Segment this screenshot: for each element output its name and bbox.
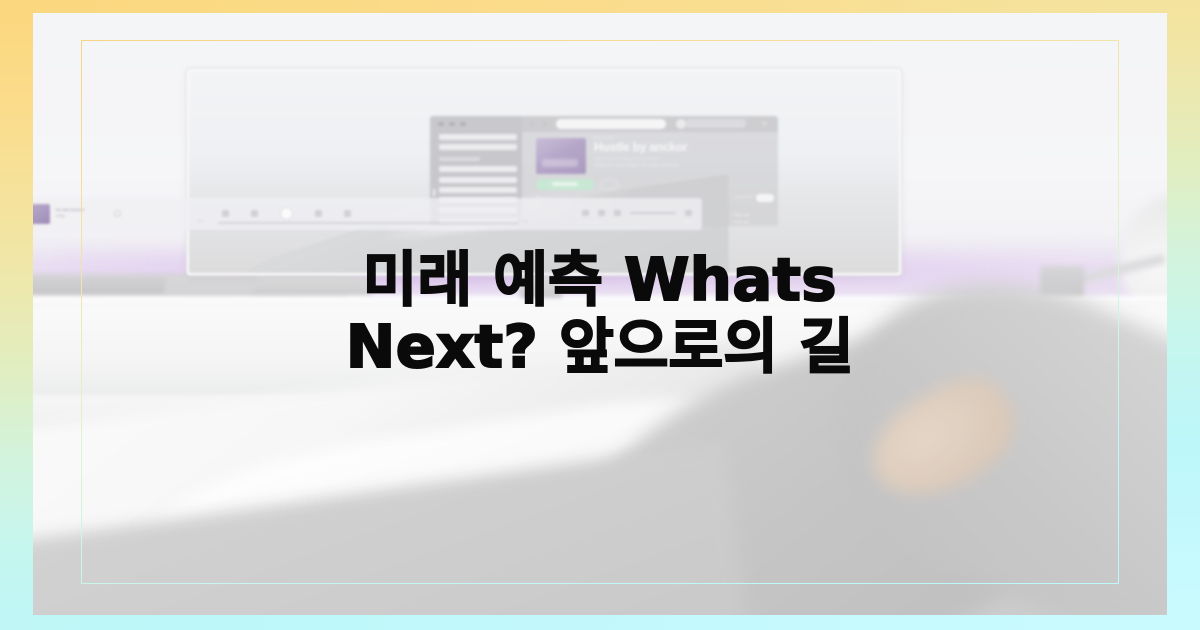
seek-slider[interactable] [218,222,518,224]
sidebar-item-browse[interactable] [439,134,517,140]
player-right-controls[interactable] [582,210,692,216]
volume-slider[interactable] [630,212,676,214]
user-name-label[interactable] [686,119,746,128]
play-pause-icon[interactable] [280,207,293,220]
playlist-title: Hustle by anckor [594,141,770,155]
repeat-icon[interactable] [344,210,351,217]
total-time: 4:02 [522,219,528,223]
download-toggle[interactable] [756,194,774,202]
queue-icon[interactable] [582,210,589,216]
minimize-icon[interactable] [449,122,455,126]
next-icon[interactable] [315,210,322,217]
playlist-cover-art [536,138,586,174]
sidebar-header-your-music [439,157,480,161]
sidebar-item-albums[interactable] [439,187,517,193]
playlist-byline: Created by: Julian Ollopez • 64 songs, 3… [594,163,770,167]
previous-icon[interactable] [251,210,258,217]
volume-icon[interactable] [614,210,621,216]
cover-art-text [542,159,578,167]
elapsed-time: 0:45 [198,219,204,223]
now-playing-artist: Drake [56,214,65,218]
save-track-icon[interactable] [114,210,121,217]
sidebar-item-your-daily-mix[interactable] [439,166,517,172]
mouse [252,275,377,297]
sidebar-active-indicator [433,189,435,196]
monitor-stand [520,276,562,298]
devices-icon[interactable] [598,210,605,216]
transport-controls[interactable] [222,207,351,220]
chevron-down-icon[interactable] [761,122,768,126]
close-icon[interactable] [438,122,444,126]
chevron-right-icon[interactable] [543,121,547,127]
chevron-left-icon[interactable] [530,121,534,127]
now-playing-title: Do Not Disturb [56,207,84,212]
play-button[interactable] [536,179,594,190]
nav-arrows[interactable] [530,121,547,127]
maximize-icon[interactable] [460,122,466,126]
shuffle-icon[interactable] [222,210,229,217]
fullscreen-icon[interactable] [685,210,692,216]
playlist-meta: PLAYLIST Hustle by anckor Tight bass to … [594,136,770,167]
poster-canvas: PLAYLIST Hustle by anckor Tight bass to … [0,0,1200,630]
sidebar-item-radio[interactable] [439,144,517,150]
window-controls[interactable] [438,122,466,126]
now-playing-art [30,204,50,224]
sidebar-item-songs[interactable] [439,177,517,183]
download-label: Download [735,195,752,199]
avatar[interactable] [676,119,686,129]
playlist-subtitle: Tight bass to complement your Hustle [594,157,770,161]
search-input[interactable] [556,119,666,129]
app-topbar [522,116,778,132]
more-options-button[interactable] [600,179,618,190]
now-playing-bar[interactable]: Do Not Disturb Drake 0:45 4:02 [22,198,702,230]
